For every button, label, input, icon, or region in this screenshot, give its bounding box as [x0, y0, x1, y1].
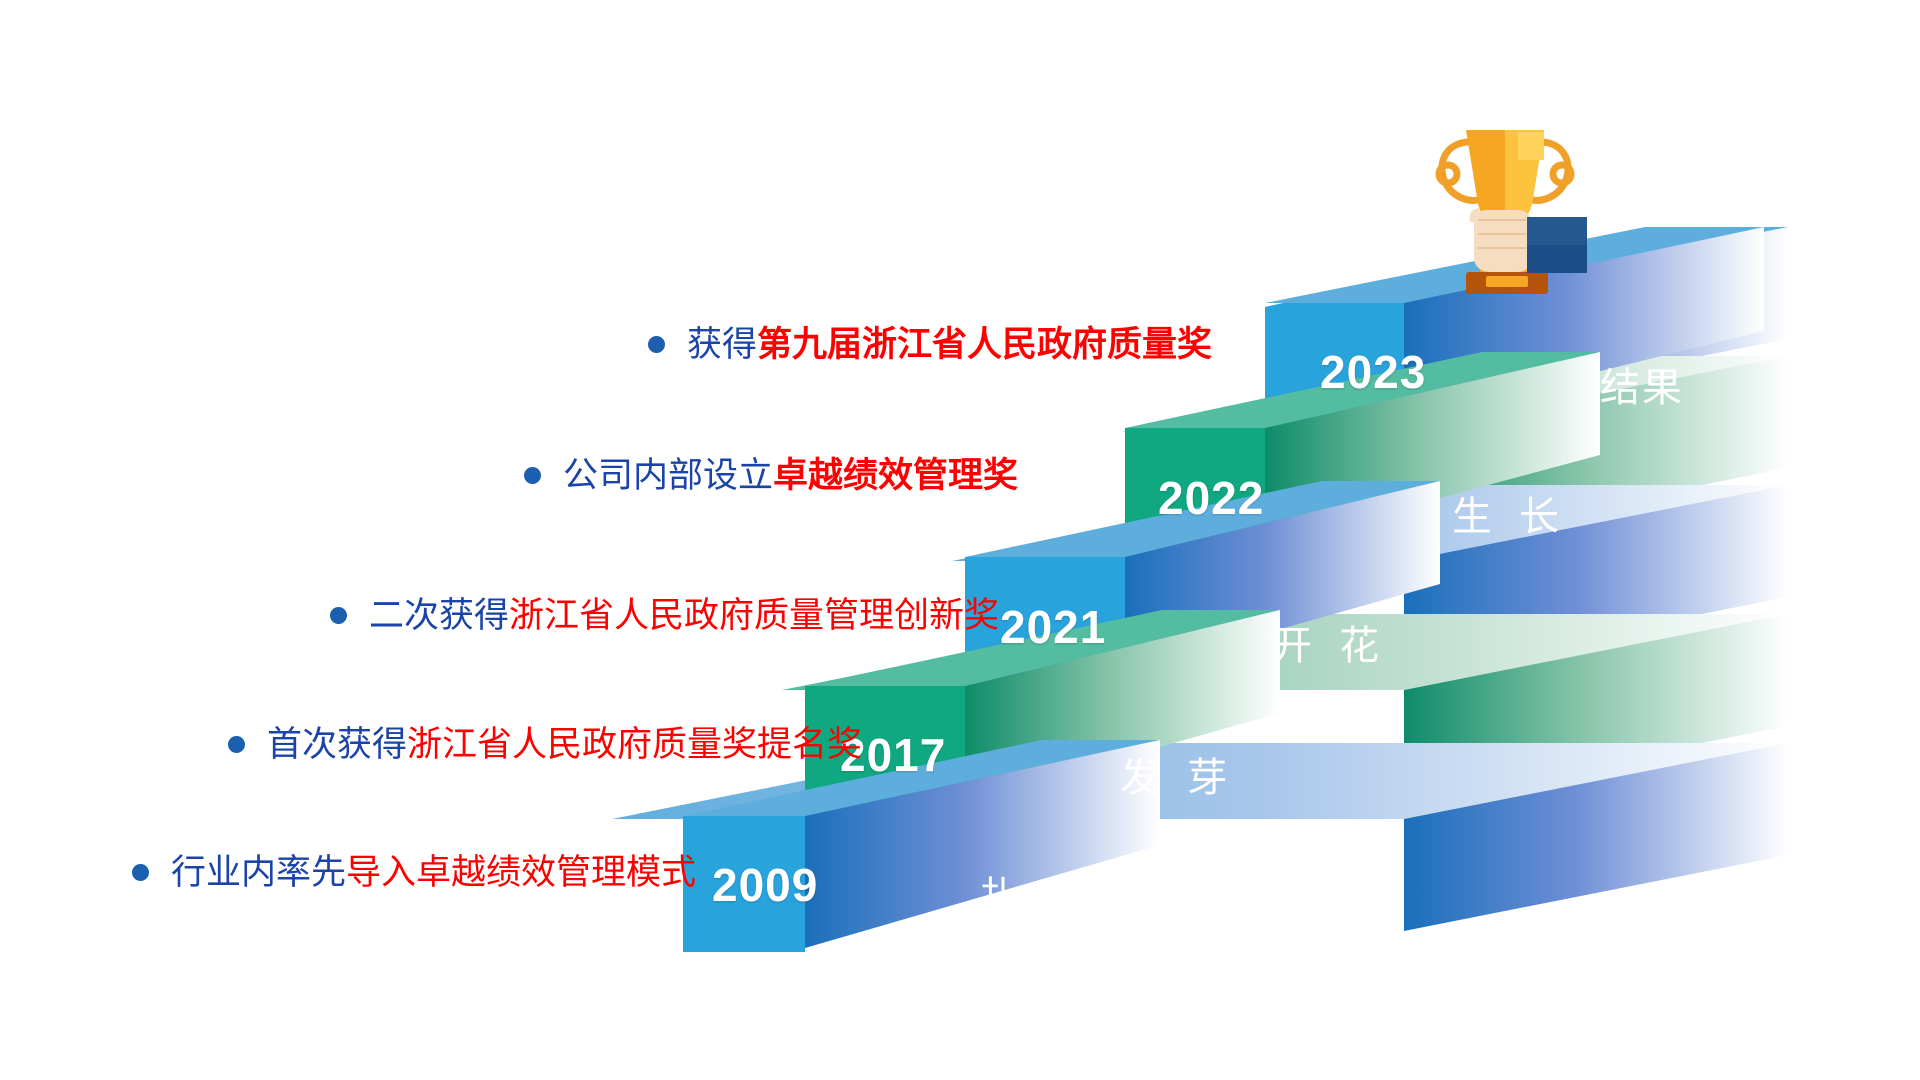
milestone-row-2017[interactable]: 首次获得 浙江省人民政府质量奖提名奖	[228, 727, 862, 762]
step-year-2021: 2021	[1000, 600, 1106, 654]
milestone-text-red-2023: 第九届浙江省人民政府质量奖	[757, 327, 1212, 362]
milestone-text-red-2009: 导入卓越绩效管理模式	[346, 855, 696, 890]
milestone-text-blue-2023: 获得	[687, 327, 757, 362]
step-year-2009: 2009	[712, 858, 818, 912]
bullet-dot-icon	[330, 607, 347, 624]
step-stage-2017: 发 芽	[1120, 745, 1235, 803]
milestone-text-red-2017: 浙江省人民政府质量奖提名奖	[407, 727, 862, 762]
step-year-2022: 2022	[1158, 471, 1264, 525]
bullet-dot-icon	[524, 467, 541, 484]
trophy-icon	[1422, 112, 1592, 302]
step-stage-2022: 生 长	[1452, 484, 1567, 542]
slide-canvas: 2009 2017 2021 2022 2023 扎 根 发 芽 开 花 生 长…	[0, 0, 1920, 1080]
milestone-row-2021[interactable]: 二次获得 浙江省人民政府质量管理创新奖	[330, 598, 999, 633]
step-stage-2009: 扎 根	[980, 864, 1095, 922]
step-stage-2021: 开 花	[1272, 613, 1387, 671]
milestone-text-blue-2017: 首次获得	[267, 727, 407, 762]
milestone-text-blue-2021: 二次获得	[369, 598, 509, 633]
step-year-2023: 2023	[1320, 345, 1426, 399]
bullet-dot-icon	[132, 864, 149, 881]
milestone-row-2009[interactable]: 行业内率先 导入卓越绩效管理模式	[132, 855, 696, 890]
milestone-text-red-2021: 浙江省人民政府质量管理创新奖	[509, 598, 999, 633]
bullet-dot-icon	[648, 336, 665, 353]
milestone-row-2022[interactable]: 公司内部设立 卓越绩效管理奖	[524, 458, 1018, 493]
milestone-text-blue-2022: 公司内部设立	[563, 458, 773, 493]
step-stage-2023: 结果	[1600, 355, 1684, 413]
bullet-dot-icon	[228, 736, 245, 753]
milestone-text-blue-2009: 行业内率先	[171, 855, 346, 890]
staircase-diagram	[0, 0, 1920, 1080]
milestone-text-red-2022: 卓越绩效管理奖	[773, 458, 1018, 493]
milestone-row-2023[interactable]: 获得 第九届浙江省人民政府质量奖	[648, 327, 1212, 362]
